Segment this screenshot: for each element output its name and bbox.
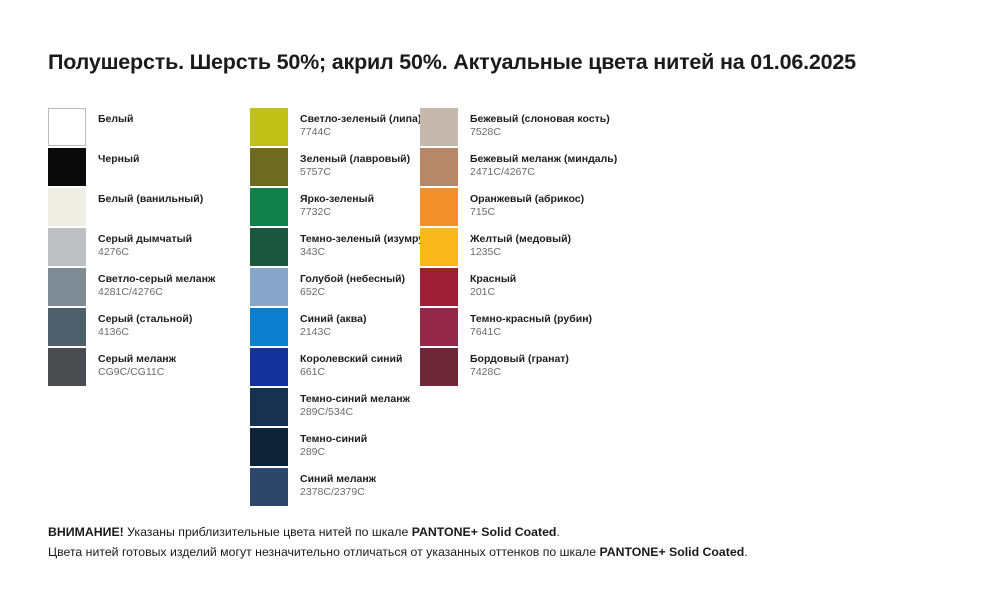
color-swatch — [250, 308, 288, 346]
color-swatch — [250, 388, 288, 426]
color-swatch — [48, 188, 86, 226]
swatch-row: Черный — [48, 148, 248, 188]
swatch-label-group: Серый меланжCG9C/CG11C — [98, 348, 176, 379]
swatch-pantone-code: CG9C/CG11C — [98, 366, 176, 378]
swatch-label-group: Бежевый (слоновая кость)7528C — [470, 108, 610, 139]
swatch-pantone-code: 343C — [300, 246, 434, 258]
color-swatch — [48, 148, 86, 186]
swatch-color-name: Бежевый меланж (миндаль) — [470, 153, 617, 165]
footer-line-2-text: Цвета нитей готовых изделий могут незнач… — [48, 545, 599, 559]
swatch-label-group: Бордовый (гранат)7428C — [470, 348, 569, 379]
swatch-row: Синий меланж2378C/2379C — [250, 468, 420, 508]
swatch-column-1: БелыйЧерныйБелый (ванильный)Серый дымчат… — [48, 108, 248, 388]
swatch-row: Бежевый (слоновая кость)7528C — [420, 108, 650, 148]
color-swatch — [48, 348, 86, 386]
swatch-pantone-code: 4136C — [98, 326, 192, 338]
color-swatch — [420, 108, 458, 146]
swatch-pantone-code: 289C — [300, 446, 367, 458]
swatch-label-group: Зеленый (лавровый)5757C — [300, 148, 410, 179]
swatch-label-group: Ярко-зеленый7732C — [300, 188, 374, 219]
swatch-color-name: Светло-серый меланж — [98, 273, 215, 285]
swatch-pantone-code: 661C — [300, 366, 402, 378]
color-swatch — [250, 468, 288, 506]
swatch-pantone-code: 5757C — [300, 166, 410, 178]
footer-line-1-text: Указаны приблизительные цвета нитей по ш… — [124, 525, 412, 539]
swatch-pantone-code: 1235C — [470, 246, 571, 258]
swatch-pantone-code: 289C/534C — [300, 406, 410, 418]
swatch-label-group: Серый (стальной)4136C — [98, 308, 192, 339]
swatch-color-name: Желтый (медовый) — [470, 233, 571, 245]
swatch-color-name: Бежевый (слоновая кость) — [470, 113, 610, 125]
color-swatch — [250, 268, 288, 306]
swatch-row: Серый (стальной)4136C — [48, 308, 248, 348]
swatch-label-group: Оранжевый (абрикос)715C — [470, 188, 584, 219]
swatch-pantone-code: 4281C/4276C — [98, 286, 215, 298]
color-swatch — [250, 428, 288, 466]
color-swatch — [48, 268, 86, 306]
footer-line-1: ВНИМАНИЕ! Указаны приблизительные цвета … — [48, 523, 958, 543]
swatch-color-name: Синий (аква) — [300, 313, 366, 325]
swatch-label-group: Темно-синий289C — [300, 428, 367, 459]
swatch-label-group: Темно-зеленый (изумруд)343C — [300, 228, 434, 259]
footer-disclaimer: ВНИМАНИЕ! Указаны приблизительные цвета … — [48, 523, 958, 563]
swatch-label-group: Бежевый меланж (миндаль)2471C/4267C — [470, 148, 617, 179]
swatch-pantone-code: 7428C — [470, 366, 569, 378]
color-swatch — [250, 228, 288, 266]
swatch-column-2: Светло-зеленый (липа)7744CЗеленый (лавро… — [250, 108, 420, 508]
color-swatch — [48, 308, 86, 346]
swatch-row: Темно-зеленый (изумруд)343C — [250, 228, 420, 268]
color-swatch — [250, 348, 288, 386]
swatch-color-name: Черный — [98, 153, 139, 165]
swatch-row: Синий (аква)2143C — [250, 308, 420, 348]
swatch-row: Зеленый (лавровый)5757C — [250, 148, 420, 188]
swatch-color-name: Синий меланж — [300, 473, 376, 485]
color-swatch — [420, 348, 458, 386]
swatch-label-group: Светло-зеленый (липа)7744C — [300, 108, 421, 139]
swatch-label-group: Желтый (медовый)1235C — [470, 228, 571, 259]
swatch-pantone-code: 7641C — [470, 326, 592, 338]
color-swatch — [48, 228, 86, 266]
footer-line-1-end: . — [556, 525, 559, 539]
swatch-color-name: Голубой (небесный) — [300, 273, 405, 285]
swatch-row: Ярко-зеленый7732C — [250, 188, 420, 228]
swatch-color-name: Темно-красный (рубин) — [470, 313, 592, 325]
swatch-label-group: Красный201C — [470, 268, 516, 299]
color-swatch — [420, 188, 458, 226]
swatch-label-group: Черный — [98, 148, 139, 165]
swatch-pantone-code: 4276C — [98, 246, 192, 258]
footer-line-2-end: . — [744, 545, 747, 559]
swatch-color-name: Серый (стальной) — [98, 313, 192, 325]
swatch-pantone-code: 7744C — [300, 126, 421, 138]
swatch-color-name: Серый меланж — [98, 353, 176, 365]
color-swatch — [420, 268, 458, 306]
footer-brand-2: PANTONE+ Solid Coated — [599, 545, 744, 559]
swatch-row: Темно-синий меланж289C/534C — [250, 388, 420, 428]
swatch-row: Темно-синий289C — [250, 428, 420, 468]
color-swatch — [250, 188, 288, 226]
swatch-row: Оранжевый (абрикос)715C — [420, 188, 650, 228]
swatch-row: Светло-зеленый (липа)7744C — [250, 108, 420, 148]
swatch-label-group: Темно-синий меланж289C/534C — [300, 388, 410, 419]
swatch-label-group: Королевский синий661C — [300, 348, 402, 379]
swatch-pantone-code: 2143C — [300, 326, 366, 338]
swatch-label-group: Серый дымчатый4276C — [98, 228, 192, 259]
swatch-row: Белый (ванильный) — [48, 188, 248, 228]
swatch-color-name: Бордовый (гранат) — [470, 353, 569, 365]
swatch-row: Темно-красный (рубин)7641C — [420, 308, 650, 348]
color-chart-page: Полушерсть. Шерсть 50%; акрил 50%. Актуа… — [0, 0, 1000, 609]
swatch-color-name: Оранжевый (абрикос) — [470, 193, 584, 205]
swatch-row: Желтый (медовый)1235C — [420, 228, 650, 268]
swatch-row: Белый — [48, 108, 248, 148]
swatch-pantone-code: 201C — [470, 286, 516, 298]
swatch-pantone-code: 7732C — [300, 206, 374, 218]
color-swatch — [420, 228, 458, 266]
swatch-color-name: Королевский синий — [300, 353, 402, 365]
swatch-pantone-code: 2471C/4267C — [470, 166, 617, 178]
swatch-row: Бордовый (гранат)7428C — [420, 348, 650, 388]
swatch-label-group: Белый — [98, 108, 133, 125]
swatch-color-name: Ярко-зеленый — [300, 193, 374, 205]
swatch-row: Королевский синий661C — [250, 348, 420, 388]
swatch-row: Бежевый меланж (миндаль)2471C/4267C — [420, 148, 650, 188]
swatch-row: Голубой (небесный)652C — [250, 268, 420, 308]
color-swatch — [250, 148, 288, 186]
color-swatch — [420, 308, 458, 346]
swatch-row: Серый дымчатый4276C — [48, 228, 248, 268]
page-title: Полушерсть. Шерсть 50%; акрил 50%. Актуа… — [48, 50, 856, 75]
swatch-pantone-code: 2378C/2379C — [300, 486, 376, 498]
swatch-color-name: Белый (ванильный) — [98, 193, 203, 205]
swatch-color-name: Светло-зеленый (липа) — [300, 113, 421, 125]
swatch-color-name: Серый дымчатый — [98, 233, 192, 245]
swatch-color-name: Зеленый (лавровый) — [300, 153, 410, 165]
swatch-pantone-code: 7528C — [470, 126, 610, 138]
swatch-label-group: Синий меланж2378C/2379C — [300, 468, 376, 499]
footer-attention-label: ВНИМАНИЕ! — [48, 525, 124, 539]
color-swatch — [48, 108, 86, 146]
swatch-row: Серый меланжCG9C/CG11C — [48, 348, 248, 388]
footer-brand-1: PANTONE+ Solid Coated — [412, 525, 557, 539]
swatch-row: Светло-серый меланж4281C/4276C — [48, 268, 248, 308]
swatch-pantone-code: 652C — [300, 286, 405, 298]
swatch-color-name: Красный — [470, 273, 516, 285]
swatch-label-group: Синий (аква)2143C — [300, 308, 366, 339]
swatch-pantone-code: 715C — [470, 206, 584, 218]
swatch-color-name: Темно-синий меланж — [300, 393, 410, 405]
footer-line-2: Цвета нитей готовых изделий могут незнач… — [48, 543, 958, 563]
swatch-color-name: Темно-зеленый (изумруд) — [300, 233, 434, 245]
color-swatch — [420, 148, 458, 186]
color-swatch — [250, 108, 288, 146]
swatch-label-group: Темно-красный (рубин)7641C — [470, 308, 592, 339]
swatch-color-name: Белый — [98, 113, 133, 125]
swatch-color-name: Темно-синий — [300, 433, 367, 445]
swatch-column-3: Бежевый (слоновая кость)7528CБежевый мел… — [420, 108, 650, 388]
swatch-row: Красный201C — [420, 268, 650, 308]
swatch-label-group: Светло-серый меланж4281C/4276C — [98, 268, 215, 299]
swatch-label-group: Голубой (небесный)652C — [300, 268, 405, 299]
swatch-label-group: Белый (ванильный) — [98, 188, 203, 205]
